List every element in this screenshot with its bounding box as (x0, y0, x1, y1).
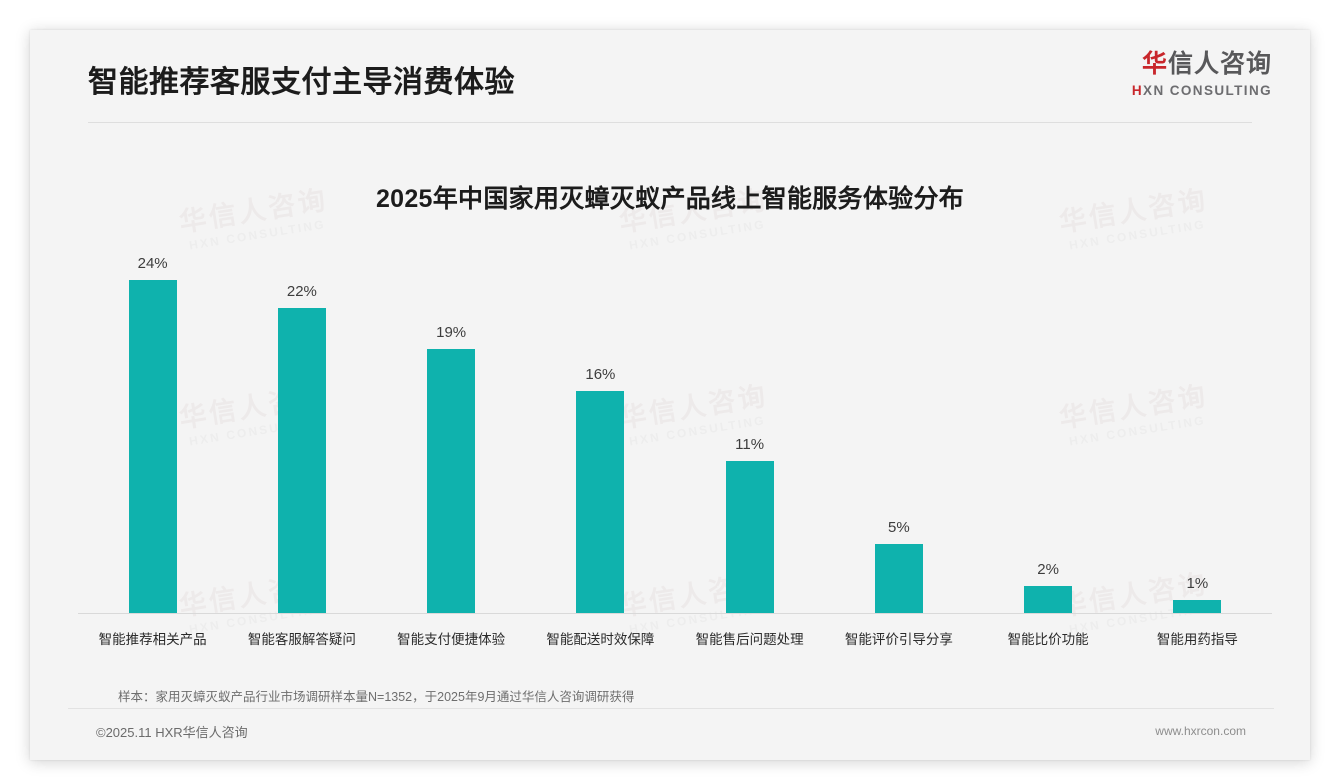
company-logo: 华信人咨询 HXN CONSULTING (1132, 52, 1272, 98)
bar-rect[interactable] (1173, 600, 1221, 614)
logo-english-text: HXN CONSULTING (1132, 84, 1272, 98)
copyright-text: ©2025.11 HXR华信人咨询 (96, 722, 248, 741)
chart-plot-area: 24%智能推荐相关产品22%智能客服解答疑问19%智能支付便捷体验16%智能配送… (78, 252, 1272, 652)
bar-rect[interactable] (726, 461, 774, 614)
bar-series: 24%智能推荐相关产品22%智能客服解答疑问19%智能支付便捷体验16%智能配送… (78, 252, 1272, 614)
slide-card: 智能推荐客服支付主导消费体验 华信人咨询 HXN CONSULTING 华信人咨… (30, 30, 1310, 760)
bar-rect[interactable] (1024, 586, 1072, 614)
chart-container: 华信人咨询 HXN CONSULTING 华信人咨询 HXN CONSULTIN… (30, 122, 1310, 692)
category-label: 智能售后问题处理 (675, 628, 824, 648)
bar-group: 1%智能用药指导 (1123, 252, 1272, 614)
category-label: 智能用药指导 (1123, 628, 1272, 648)
bar-value-label: 1% (1123, 575, 1272, 592)
bar-group: 5%智能评价引导分享 (824, 252, 973, 614)
bar-value-label: 22% (227, 283, 376, 300)
slide-footer: ©2025.11 HXR华信人咨询 www.hxrcon.com (30, 708, 1310, 760)
bar-rect[interactable] (427, 349, 475, 614)
bar-value-label: 24% (78, 255, 227, 272)
website-link[interactable]: www.hxrcon.com (1155, 724, 1246, 738)
watermark-english: HXN CONSULTING (622, 217, 772, 252)
bar-value-label: 16% (526, 366, 675, 383)
category-label: 智能支付便捷体验 (377, 628, 526, 648)
category-label: 智能评价引导分享 (824, 628, 973, 648)
logo-en-rest: XN CONSULTING (1143, 83, 1272, 98)
bar-group: 11%智能售后问题处理 (675, 252, 824, 614)
watermark-english: HXN CONSULTING (182, 217, 332, 252)
bar-rect[interactable] (129, 280, 177, 614)
watermark-english: HXN CONSULTING (1062, 217, 1212, 252)
category-label: 智能配送时效保障 (526, 628, 675, 648)
bar-group: 19%智能支付便捷体验 (377, 252, 526, 614)
category-label: 智能客服解答疑问 (227, 628, 376, 648)
bar-rect[interactable] (278, 308, 326, 614)
logo-en-highlight: H (1132, 83, 1143, 98)
source-note: 样本：家用灭蟑灭蚁产品行业市场调研样本量N=1352，于2025年9月通过华信人… (118, 686, 634, 705)
bar-value-label: 19% (377, 324, 526, 341)
x-axis-line (78, 613, 1272, 614)
bar-rect[interactable] (875, 544, 923, 614)
bar-group: 22%智能客服解答疑问 (227, 252, 376, 614)
logo-cn-rest: 信人咨询 (1168, 50, 1272, 78)
bar-value-label: 11% (675, 436, 824, 453)
logo-chinese-text: 华信人咨询 (1132, 52, 1272, 77)
bar-value-label: 2% (974, 561, 1123, 578)
bar-value-label: 5% (824, 519, 973, 536)
page-title: 智能推荐客服支付主导消费体验 (88, 57, 515, 101)
bar-group: 24%智能推荐相关产品 (78, 252, 227, 614)
bar-group: 16%智能配送时效保障 (526, 252, 675, 614)
slide-header: 智能推荐客服支付主导消费体验 华信人咨询 HXN CONSULTING (30, 30, 1310, 122)
bar-group: 2%智能比价功能 (974, 252, 1123, 614)
chart-title: 2025年中国家用灭蟑灭蚁产品线上智能服务体验分布 (30, 179, 1310, 215)
bar-rect[interactable] (576, 391, 624, 614)
logo-cn-highlight: 华 (1142, 50, 1168, 78)
category-label: 智能推荐相关产品 (78, 628, 227, 648)
category-label: 智能比价功能 (974, 628, 1123, 648)
